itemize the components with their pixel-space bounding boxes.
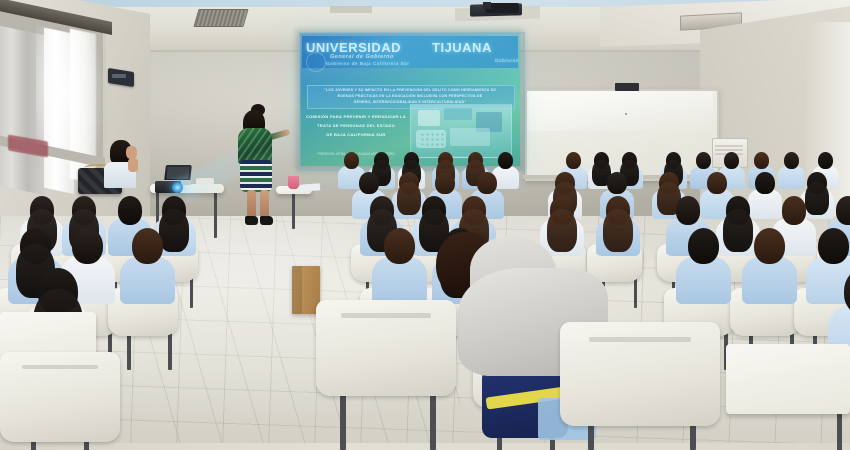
student-head xyxy=(435,172,454,194)
front-table-leg-right xyxy=(214,192,217,238)
student-head xyxy=(607,172,626,194)
presenter-shoe-right xyxy=(260,216,273,225)
student-head xyxy=(477,172,496,194)
chair-leg xyxy=(190,276,193,308)
student-head xyxy=(754,228,785,264)
wall-device-display xyxy=(112,74,126,78)
bottom-border-band xyxy=(0,443,850,450)
student-head xyxy=(724,152,739,169)
student-head xyxy=(566,152,581,169)
student-long-hair xyxy=(723,209,754,252)
student-long-hair xyxy=(159,209,190,252)
student-head xyxy=(676,196,701,225)
pink-cup xyxy=(288,176,299,189)
student-head xyxy=(707,172,726,194)
student-head xyxy=(784,152,799,169)
foreground-chair-leg xyxy=(430,392,436,450)
ceiling-vent-middle-icon xyxy=(330,6,372,13)
ceiling-vent-left-icon xyxy=(193,9,248,27)
student-long-hair xyxy=(603,209,634,252)
classroom-photo: UNIVERSIDAD TIJUANA General de Gobierno … xyxy=(0,0,850,450)
cardboard-box-side xyxy=(292,266,302,314)
student-head xyxy=(696,152,711,169)
presenter-top-pattern xyxy=(238,128,272,164)
student-head xyxy=(384,228,415,264)
student-torso xyxy=(778,166,805,189)
presenter-leg-left xyxy=(247,190,256,218)
projection-border xyxy=(299,32,525,171)
student-head xyxy=(818,228,849,264)
side-desk-leg xyxy=(292,193,295,229)
student-head xyxy=(72,228,103,264)
student-long-hair xyxy=(547,209,578,252)
student-head xyxy=(132,228,163,264)
foreground-desk xyxy=(726,344,850,414)
student-long-hair xyxy=(397,182,421,215)
foreground-chair xyxy=(560,322,720,426)
whiteboard-mark xyxy=(625,113,627,115)
student-head xyxy=(688,228,719,264)
presenter-skirt xyxy=(240,160,272,192)
student-head xyxy=(344,152,359,169)
student-head xyxy=(755,172,774,194)
student-head xyxy=(754,152,769,169)
chair-leg xyxy=(634,276,637,308)
presenter-leg-right xyxy=(260,190,269,218)
desk-accessories xyxy=(196,178,214,185)
whiteboard-top-clip xyxy=(615,83,639,91)
operator-arm xyxy=(128,158,138,172)
foreground-chair-leg xyxy=(340,392,346,450)
student-long-hair xyxy=(805,182,829,215)
paper-sheet xyxy=(300,183,320,191)
student-head xyxy=(118,196,143,225)
student-head xyxy=(782,196,807,225)
student-head xyxy=(498,152,513,169)
student-head xyxy=(836,196,850,225)
foreground-chair xyxy=(316,300,456,396)
student-head xyxy=(818,152,833,169)
ceiling-projector-arm xyxy=(483,2,491,9)
whiteboard-sheen xyxy=(527,91,713,131)
student-head xyxy=(359,172,378,194)
presenter-shoe-left xyxy=(245,216,258,225)
left-foreground-chair xyxy=(0,352,120,442)
